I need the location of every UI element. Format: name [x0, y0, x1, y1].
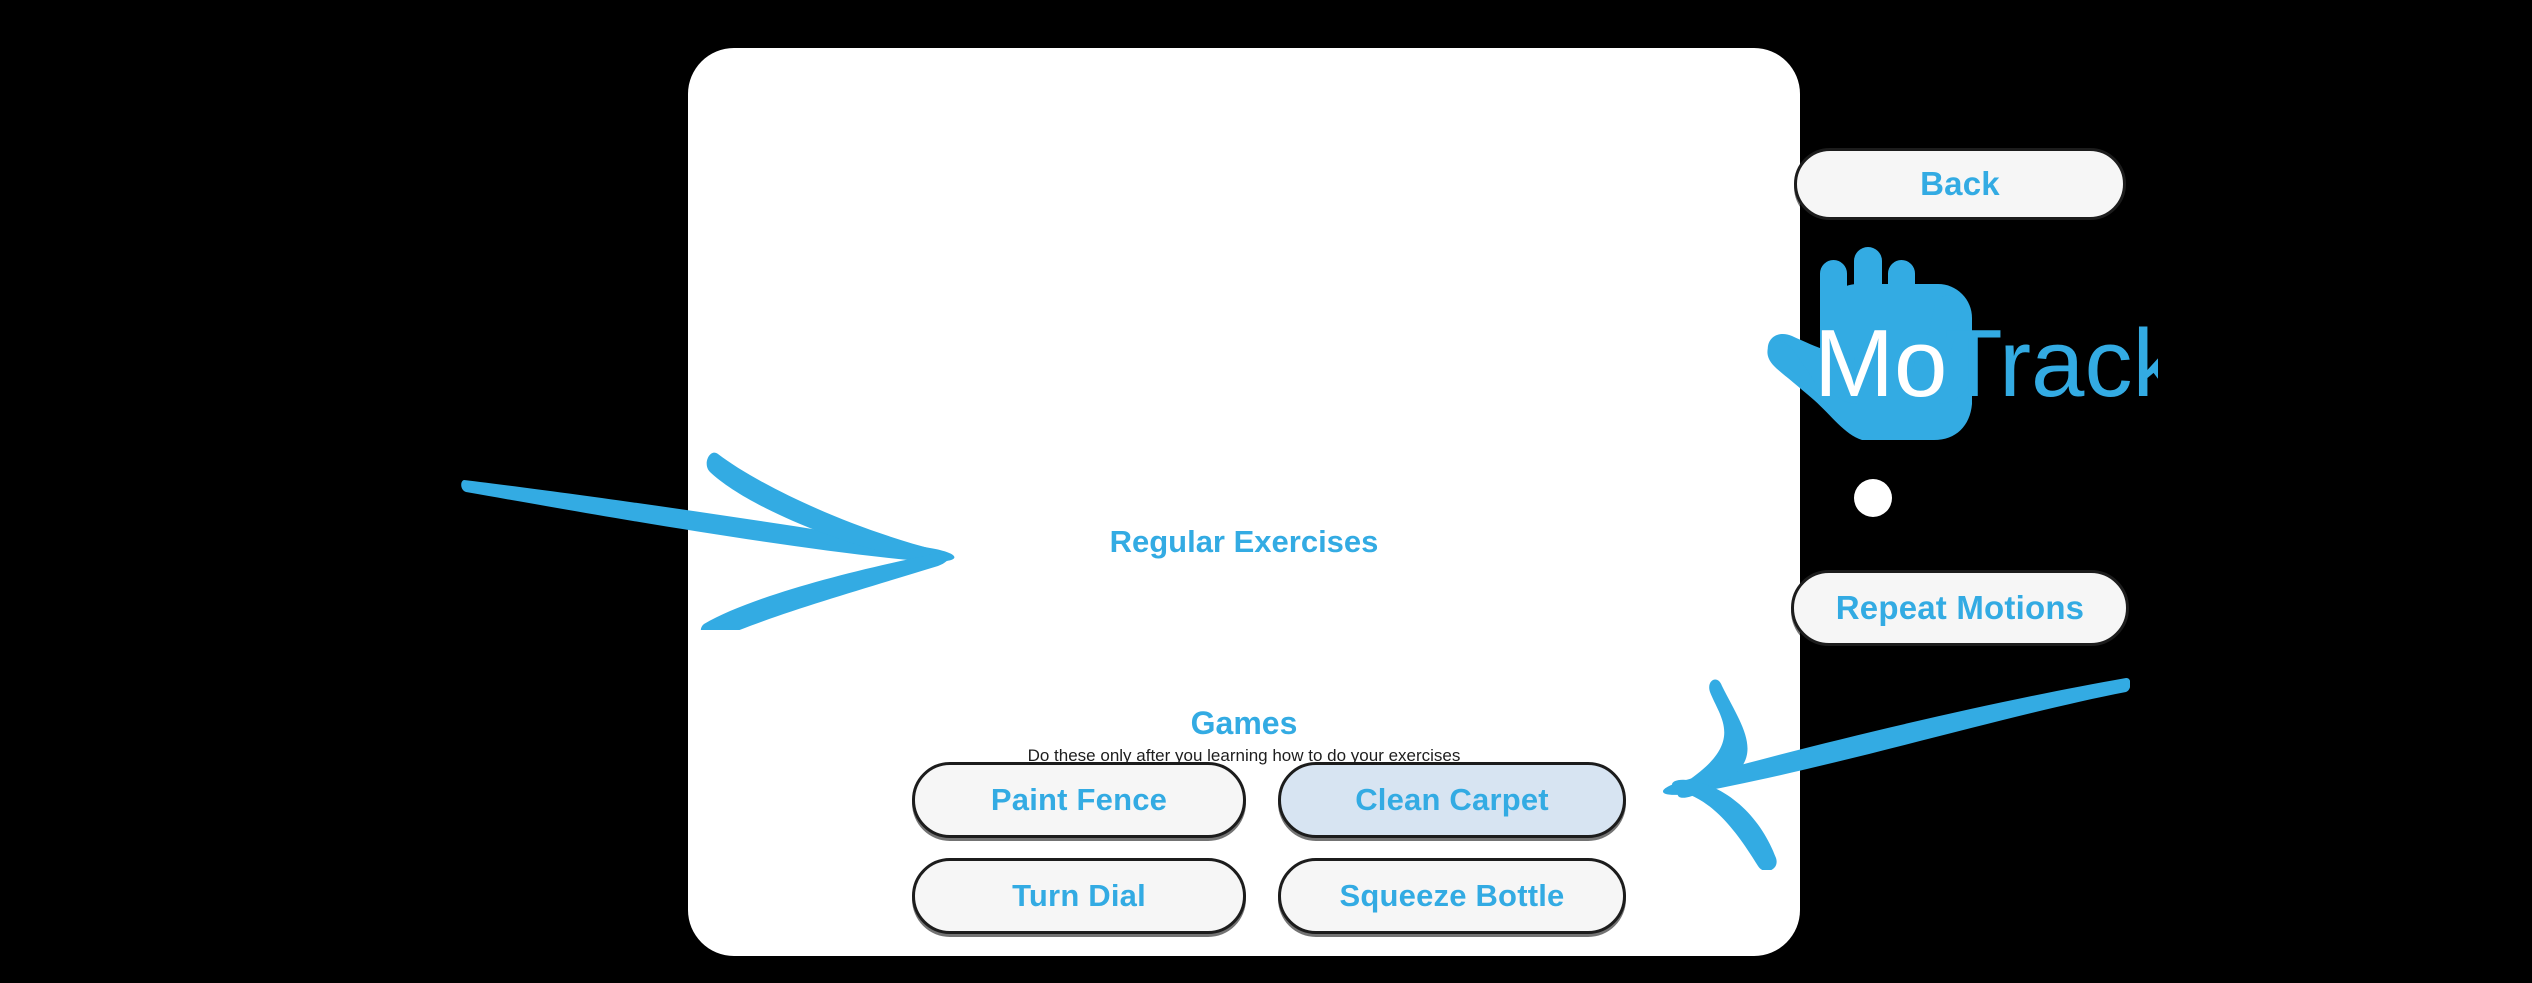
- back-button[interactable]: Back: [1794, 148, 2126, 220]
- game-button-turn-dial[interactable]: Turn Dial: [912, 858, 1246, 934]
- motrack-logo: Mo Track: [1758, 244, 2158, 440]
- game-button-clean-carpet[interactable]: Clean Carpet: [1278, 762, 1626, 838]
- front-camera-icon: [1854, 479, 1892, 517]
- games-heading: Games: [688, 705, 1800, 742]
- games-subtitle: Do these only after you learning how to …: [688, 746, 1800, 766]
- regular-exercises-heading: Regular Exercises: [688, 524, 1800, 560]
- app-screen-card: Back: [688, 48, 1800, 956]
- device-frame: Back: [0, 0, 2532, 983]
- hand-icon: [1758, 244, 2158, 440]
- repeat-motions-button[interactable]: Repeat Motions: [1791, 570, 2129, 646]
- game-button-paint-fence[interactable]: Paint Fence: [912, 762, 1246, 838]
- game-button-squeeze-bottle[interactable]: Squeeze Bottle: [1278, 858, 1626, 934]
